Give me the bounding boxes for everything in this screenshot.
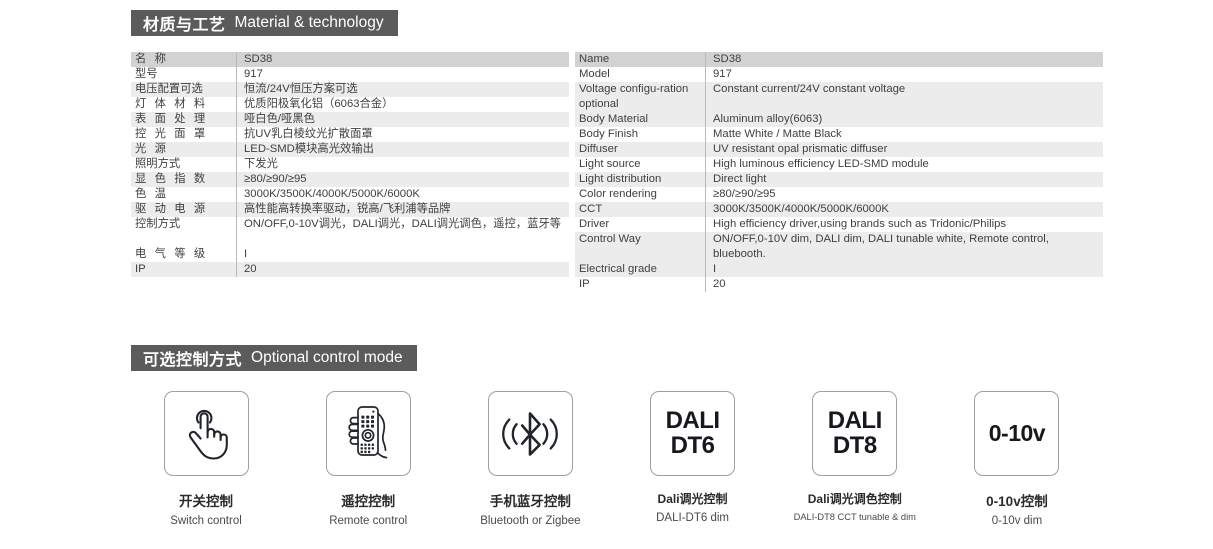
control-mode-label-cn: Dali调光调色控制	[808, 490, 902, 507]
spec-key: Model	[575, 67, 706, 82]
spec-value: Aluminum alloy(6063)	[706, 112, 1104, 127]
spec-key: IP	[575, 277, 706, 292]
spec-key: 显 色 指 数	[131, 172, 237, 187]
spec-key: Name	[575, 52, 706, 67]
table-row: DiffuserUV resistant opal prismatic diff…	[575, 142, 1103, 157]
spec-table-chinese: 名 称SD38型号917电压配置可选恒流/24V恒压方案可选灯 体 材 料优质阳…	[131, 52, 569, 277]
spec-value: 3000K/3500K/4000K/5000K/6000K	[706, 202, 1104, 217]
control-mode-icon-box[interactable]	[164, 391, 249, 476]
control-mode-label-cn: 手机蓝牙控制	[490, 490, 571, 510]
spec-table-english: NameSD38Model917Voltage configu-ration o…	[575, 52, 1103, 292]
spec-key: Control Way	[575, 232, 706, 262]
control-mode-label-en: Bluetooth or Zigbee	[480, 515, 580, 527]
table-row: Electrical gradeI	[575, 262, 1103, 277]
table-row: 型号917	[131, 67, 569, 82]
spec-key: 灯 体 材 料	[131, 97, 237, 112]
control-mode-label-en: Remote control	[329, 515, 407, 527]
spec-value: I	[706, 262, 1104, 277]
section-header-control-mode-cn: 可选控制方式	[143, 346, 242, 370]
control-mode-label-cn: 0-10v控制	[986, 490, 1048, 510]
control-mode-label-en: 0-10v dim	[992, 515, 1043, 527]
table-row: DriverHigh efficiency driver,using brand…	[575, 217, 1103, 232]
spec-value: 917	[706, 67, 1104, 82]
control-mode-icon-box[interactable]: DALIDT6	[650, 391, 735, 476]
section-header-control-mode: 可选控制方式 Optional control mode	[131, 345, 417, 371]
spec-value: 哑白色/哑黑色	[237, 112, 570, 127]
spec-key: 名 称	[131, 52, 237, 67]
spec-value: ≥80/≥90/≥95	[706, 187, 1104, 202]
bluetooth-signal-icon	[499, 409, 561, 459]
dali-dt8-text-icon: DALIDT8	[828, 409, 882, 458]
section-header-material: 材质与工艺 Material & technology	[131, 10, 398, 36]
spec-value: 20	[237, 262, 570, 277]
control-mode-icon-box[interactable]	[488, 391, 573, 476]
spec-value: Direct light	[706, 172, 1104, 187]
spec-key: Color rendering	[575, 187, 706, 202]
spec-value: ≥80/≥90/≥95	[237, 172, 570, 187]
control-mode-item[interactable]: DALIDT6Dali调光控制DALI-DT6 dim	[618, 391, 768, 527]
spec-key: Driver	[575, 217, 706, 232]
spec-table-chinese-body: 名 称SD38型号917电压配置可选恒流/24V恒压方案可选灯 体 材 料优质阳…	[131, 52, 569, 277]
table-row: 表 面 处 理哑白色/哑黑色	[131, 112, 569, 127]
table-row: 显 色 指 数≥80/≥90/≥95	[131, 172, 569, 187]
section-header-control-mode-en: Optional control mode	[251, 349, 403, 367]
spec-value: I	[237, 247, 570, 262]
table-row: IP20	[131, 262, 569, 277]
table-row: Color rendering≥80/≥90/≥95	[575, 187, 1103, 202]
spec-value: 917	[237, 67, 570, 82]
spec-value: 3000K/3500K/4000K/5000K/6000K	[237, 187, 570, 202]
spec-key: 电 气 等 级	[131, 247, 237, 262]
control-mode-icon-box[interactable]: 0-10v	[974, 391, 1059, 476]
spec-key: Body Finish	[575, 127, 706, 142]
spec-value: 抗UV乳白棱纹光扩散面罩	[237, 127, 570, 142]
table-row: Light distributionDirect light	[575, 172, 1103, 187]
table-row: Light sourceHigh luminous efficiency LED…	[575, 157, 1103, 172]
control-mode-item[interactable]: 遥控控制Remote control	[293, 391, 443, 527]
spec-value: UV resistant opal prismatic diffuser	[706, 142, 1104, 157]
section-header-material-en: Material & technology	[235, 14, 384, 32]
spec-value: SD38	[706, 52, 1104, 67]
spec-value: Constant current/24V constant voltage	[706, 82, 1104, 112]
spec-key: 型号	[131, 67, 237, 82]
spec-key: IP	[131, 262, 237, 277]
spec-value: LED-SMD模块高光效输出	[237, 142, 570, 157]
spec-value: Matte White / Matte Black	[706, 127, 1104, 142]
dali-dt6-text-icon: DALIDT6	[666, 409, 720, 458]
control-mode-label-cn: 遥控控制	[341, 490, 395, 510]
spec-value: ON/OFF,0-10V dim, DALI dim, DALI tunable…	[706, 232, 1104, 262]
table-row: Control WayON/OFF,0-10V dim, DALI dim, D…	[575, 232, 1103, 262]
control-mode-icon-box[interactable]	[326, 391, 411, 476]
spec-key: 色 温	[131, 187, 237, 202]
control-mode-label-en: DALI-DT8 CCT tunable & dim	[794, 512, 916, 522]
section-header-material-cn: 材质与工艺	[143, 11, 226, 35]
spec-key: 照明方式	[131, 157, 237, 172]
spec-key: Body Material	[575, 112, 706, 127]
table-row: 光 源LED-SMD模块高光效输出	[131, 142, 569, 157]
spec-key: 电压配置可选	[131, 82, 237, 97]
spec-table-english-body: NameSD38Model917Voltage configu-ration o…	[575, 52, 1103, 292]
control-mode-item[interactable]: 开关控制Switch control	[131, 391, 281, 527]
table-row: 控制方式ON/OFF,0-10V调光，DALI调光，DALI调光调色，遥控，蓝牙…	[131, 217, 569, 247]
table-row: 电压配置可选恒流/24V恒压方案可选	[131, 82, 569, 97]
spec-key: Diffuser	[575, 142, 706, 157]
table-row: 灯 体 材 料优质阳极氧化铝（6063合金）	[131, 97, 569, 112]
control-mode-icon-box[interactable]: DALIDT8	[812, 391, 897, 476]
table-row: CCT3000K/3500K/4000K/5000K/6000K	[575, 202, 1103, 217]
control-mode-label-en: Switch control	[170, 515, 242, 527]
control-mode-item[interactable]: DALIDT8Dali调光调色控制DALI-DT8 CCT tunable & …	[780, 391, 930, 527]
table-row: 电 气 等 级I	[131, 247, 569, 262]
spec-value: 高性能高转换率驱动，锐高/飞利浦等品牌	[237, 202, 570, 217]
table-row: Model917	[575, 67, 1103, 82]
spec-value: 20	[706, 277, 1104, 292]
control-mode-label-cn: 开关控制	[179, 490, 233, 510]
control-mode-label-en: DALI-DT6 dim	[656, 512, 729, 524]
spec-value: ON/OFF,0-10V调光，DALI调光，DALI调光调色，遥控，蓝牙等	[237, 217, 570, 247]
table-row: Body MaterialAluminum alloy(6063)	[575, 112, 1103, 127]
spec-value: 优质阳极氧化铝（6063合金）	[237, 97, 570, 112]
spec-key: 光 源	[131, 142, 237, 157]
table-row: 控 光 面 罩抗UV乳白棱纹光扩散面罩	[131, 127, 569, 142]
table-row: 照明方式下发光	[131, 157, 569, 172]
control-mode-list: 开关控制Switch control 遥控控制Remote control	[131, 391, 1092, 527]
zero-to-ten-volt-text-icon: 0-10v	[989, 422, 1045, 445]
spec-key: Electrical grade	[575, 262, 706, 277]
spec-value: High efficiency driver,using brands such…	[706, 217, 1104, 232]
table-row: IP20	[575, 277, 1103, 292]
control-mode-item[interactable]: 手机蓝牙控制Bluetooth or Zigbee	[455, 391, 605, 527]
table-row: Voltage configu-ration optionalConstant …	[575, 82, 1103, 112]
spec-key: 控 光 面 罩	[131, 127, 237, 142]
table-row: 驱 动 电 源高性能高转换率驱动，锐高/飞利浦等品牌	[131, 202, 569, 217]
spec-key: Light distribution	[575, 172, 706, 187]
spec-key: CCT	[575, 202, 706, 217]
control-mode-label-cn: Dali调光控制	[658, 490, 728, 507]
table-row: 色 温3000K/3500K/4000K/5000K/6000K	[131, 187, 569, 202]
control-mode-item[interactable]: 0-10v0-10v控制0-10v dim	[942, 391, 1092, 527]
table-row: Body FinishMatte White / Matte Black	[575, 127, 1103, 142]
spec-value: High luminous efficiency LED-SMD module	[706, 157, 1104, 172]
spec-value: SD38	[237, 52, 570, 67]
spec-key: Voltage configu-ration optional	[575, 82, 706, 112]
spec-key: 表 面 处 理	[131, 112, 237, 127]
spec-key: 控制方式	[131, 217, 237, 247]
table-row: NameSD38	[575, 52, 1103, 67]
spec-value: 恒流/24V恒压方案可选	[237, 82, 570, 97]
table-row: 名 称SD38	[131, 52, 569, 67]
spec-value: 下发光	[237, 157, 570, 172]
spec-key: Light source	[575, 157, 706, 172]
spec-key: 驱 动 电 源	[131, 202, 237, 217]
remote-in-hand-icon	[338, 403, 398, 465]
touch-hand-icon	[178, 405, 234, 463]
